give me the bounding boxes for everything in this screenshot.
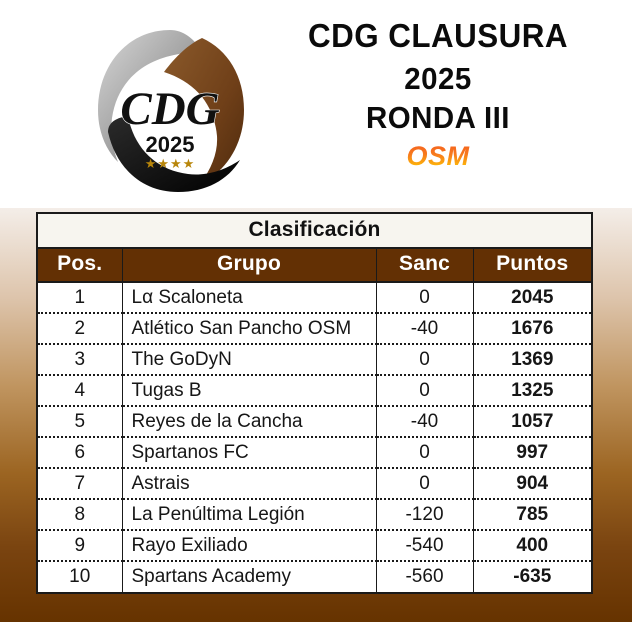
osm-badge-text: OSM [406,141,469,171]
column-header-puntos[interactable]: Puntos [473,248,591,282]
cell-sanction: -40 [376,406,473,437]
cell-points: 400 [473,530,591,561]
logo-stars: ★★★★ [145,157,196,172]
table-row[interactable]: 1Lα Scaloneta02045 [38,282,591,313]
cell-position: 6 [38,437,122,468]
table-row[interactable]: 7Astrais0904 [38,468,591,499]
table-caption-row: Clasificación [38,214,591,248]
cell-group: Rayo Exiliado [122,530,376,561]
cell-group: Atlético San Pancho OSM [122,313,376,344]
cell-position: 1 [38,282,122,313]
table-header-row: Pos. Grupo Sanc Puntos [38,248,591,282]
cell-sanction: 0 [376,344,473,375]
cell-sanction: 0 [376,437,473,468]
cell-position: 4 [38,375,122,406]
cell-group: Astrais [122,468,376,499]
cell-sanction: 0 [376,468,473,499]
column-header-sanc[interactable]: Sanc [376,248,473,282]
cell-points: 904 [473,468,591,499]
cell-sanction: -560 [376,561,473,592]
cell-position: 2 [38,313,122,344]
tournament-title: CDG CLAUSURA [277,18,600,54]
cell-position: 3 [38,344,122,375]
column-header-grupo[interactable]: Grupo [122,248,376,282]
cell-sanction: 0 [376,375,473,406]
cell-points: 1369 [473,344,591,375]
header-banner: CDG 2025 ★★★★ CDG CLAUSURA 2025 RONDA II… [0,0,632,208]
tournament-round: RONDA III [277,101,600,134]
cell-points: 785 [473,499,591,530]
cell-points: 997 [473,437,591,468]
standings-body: 1Lα Scaloneta020452Atlético San Pancho O… [38,282,591,592]
cell-points: -635 [473,561,591,592]
cell-points: 2045 [473,282,591,313]
cell-position: 7 [38,468,122,499]
table-row[interactable]: 6Spartanos FC0997 [38,437,591,468]
cell-position: 9 [38,530,122,561]
title-block: CDG CLAUSURA 2025 RONDA III OSM [268,18,608,173]
table-row[interactable]: 3The GoDyN01369 [38,344,591,375]
cell-group: Spartans Academy [122,561,376,592]
table-row[interactable]: 8La Penúltima Legión-120785 [38,499,591,530]
cell-group: Lα Scaloneta [122,282,376,313]
cell-sanction: -40 [376,313,473,344]
standings-table-container: Clasificación Pos. Grupo Sanc Puntos 1Lα… [36,212,593,594]
cell-points: 1676 [473,313,591,344]
column-header-pos[interactable]: Pos. [38,248,122,282]
cell-position: 5 [38,406,122,437]
table-row[interactable]: 4Tugas B01325 [38,375,591,406]
table-row[interactable]: 10Spartans Academy-560-635 [38,561,591,592]
cell-group: La Penúltima Legión [122,499,376,530]
cell-sanction: -540 [376,530,473,561]
cell-group: Tugas B [122,375,376,406]
cell-position: 8 [38,499,122,530]
table-caption: Clasificación [38,214,591,248]
logo-year: 2025 [146,132,195,157]
cell-group: Reyes de la Cancha [122,406,376,437]
cdg-league-logo: CDG 2025 ★★★★ [82,22,258,200]
logo-wordmark: CDG [120,83,219,135]
cell-points: 1325 [473,375,591,406]
cell-group: Spartanos FC [122,437,376,468]
cell-group: The GoDyN [122,344,376,375]
osm-badge-icon: OSM [391,139,485,173]
table-row[interactable]: 9Rayo Exiliado-540400 [38,530,591,561]
tournament-year: 2025 [277,62,600,95]
cell-points: 1057 [473,406,591,437]
cdg-logo-svg: CDG 2025 ★★★★ [82,22,258,200]
cell-sanction: -120 [376,499,473,530]
standings-table: Clasificación Pos. Grupo Sanc Puntos 1Lα… [38,214,591,592]
table-row[interactable]: 5Reyes de la Cancha-401057 [38,406,591,437]
table-row[interactable]: 2Atlético San Pancho OSM-401676 [38,313,591,344]
cell-sanction: 0 [376,282,473,313]
cell-position: 10 [38,561,122,592]
